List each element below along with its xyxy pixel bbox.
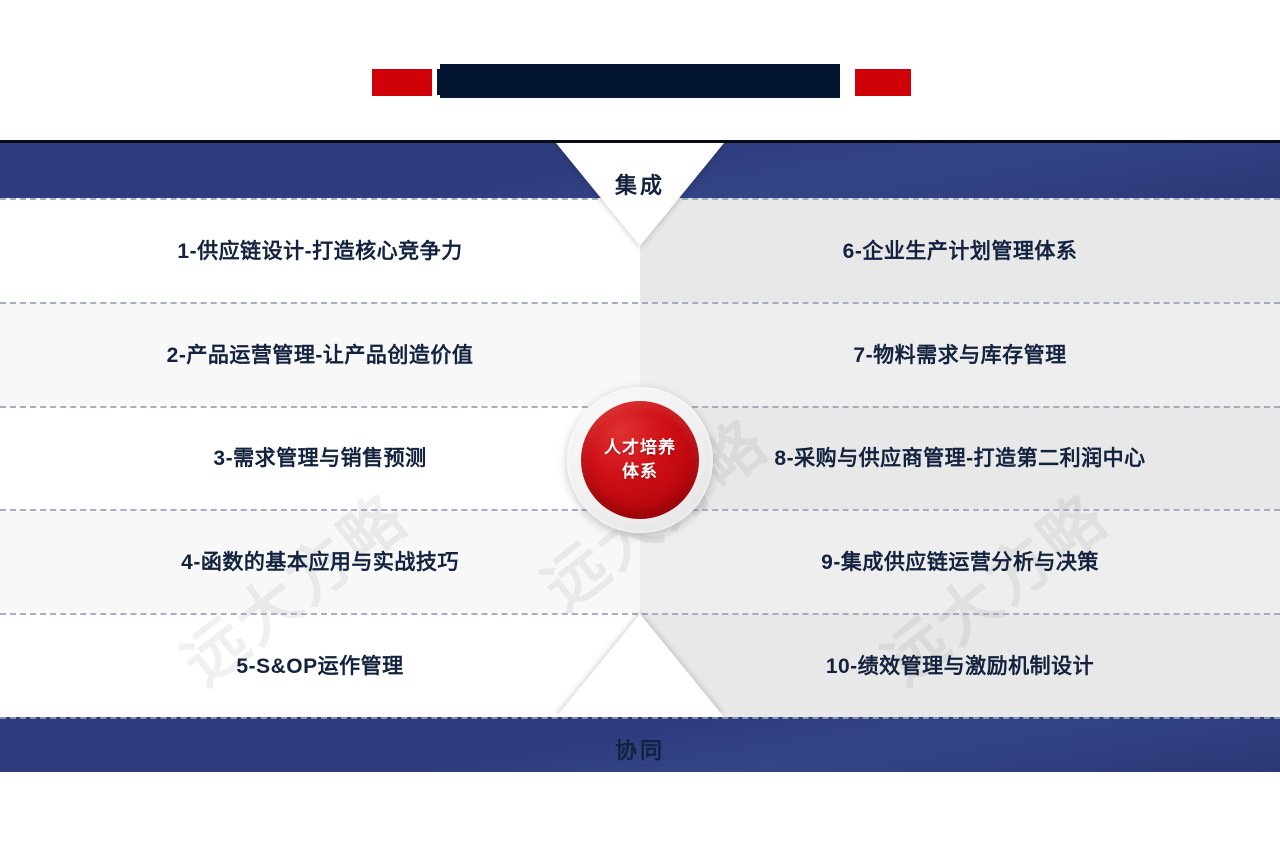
list-item[interactable]: 10-绩效管理与激励机制设计 bbox=[640, 613, 1280, 717]
course-label: 2-产品运营管理-让产品创造价值 bbox=[167, 339, 474, 369]
course-label: 10-绩效管理与激励机制设计 bbox=[826, 650, 1094, 680]
list-item[interactable]: 4-函数的基本应用与实战技巧 bbox=[0, 509, 640, 613]
course-label: 5-S&OP运作管理 bbox=[236, 650, 403, 680]
title-area: ████████████████████ bbox=[0, 0, 1280, 140]
course-label: 6-企业生产计划管理体系 bbox=[843, 235, 1078, 265]
hub-label-line1: 人才培养 bbox=[604, 436, 676, 460]
list-item[interactable]: 1-供应链设计-打造核心竞争力 bbox=[0, 198, 640, 302]
row-divider bbox=[0, 302, 1280, 304]
list-item[interactable]: 7-物料需求与库存管理 bbox=[640, 302, 1280, 406]
curriculum-diagram: 1-供应链设计-打造核心竞争力 2-产品运营管理-让产品创造价值 3-需求管理与… bbox=[0, 140, 1280, 775]
list-item[interactable]: 8-采购与供应商管理-打造第二利润中心 bbox=[640, 406, 1280, 510]
list-item[interactable]: 3-需求管理与销售预测 bbox=[0, 406, 640, 510]
hub-core: 人才培养 体系 bbox=[581, 401, 699, 519]
redacted-title-text: ████████████████████ bbox=[442, 66, 840, 96]
row-divider bbox=[0, 717, 1280, 719]
course-label: 8-采购与供应商管理-打造第二利润中心 bbox=[774, 442, 1145, 472]
list-item[interactable]: 2-产品运营管理-让产品创造价值 bbox=[0, 302, 640, 406]
title-trailing-glyph-fragment bbox=[826, 66, 840, 96]
red-accent-block-left bbox=[372, 69, 432, 96]
collaboration-arrow-icon bbox=[556, 614, 724, 717]
hub-label-line2: 体系 bbox=[622, 460, 658, 484]
list-item[interactable]: 6-企业生产计划管理体系 bbox=[640, 198, 1280, 302]
left-course-column: 1-供应链设计-打造核心竞争力 2-产品运营管理-让产品创造价值 3-需求管理与… bbox=[0, 198, 640, 717]
redacted-title-bar: ████████████████████ bbox=[440, 64, 840, 98]
course-label: 7-物料需求与库存管理 bbox=[853, 339, 1066, 369]
list-item[interactable]: 5-S&OP运作管理 bbox=[0, 613, 640, 717]
course-label: 3-需求管理与销售预测 bbox=[213, 442, 426, 472]
collaboration-label: 协同 bbox=[555, 733, 725, 765]
course-label: 9-集成供应链运营分析与决策 bbox=[821, 546, 1099, 576]
right-course-column: 6-企业生产计划管理体系 7-物料需求与库存管理 8-采购与供应商管理-打造第二… bbox=[640, 198, 1280, 717]
list-item[interactable]: 9-集成供应链运营分析与决策 bbox=[640, 509, 1280, 613]
red-accent-block-right bbox=[855, 69, 911, 96]
course-label: 4-函数的基本应用与实战技巧 bbox=[181, 546, 459, 576]
course-label: 1-供应链设计-打造核心竞争力 bbox=[177, 235, 462, 265]
center-hub[interactable]: 人才培养 体系 bbox=[567, 387, 713, 533]
integration-label: 集成 bbox=[555, 168, 725, 200]
